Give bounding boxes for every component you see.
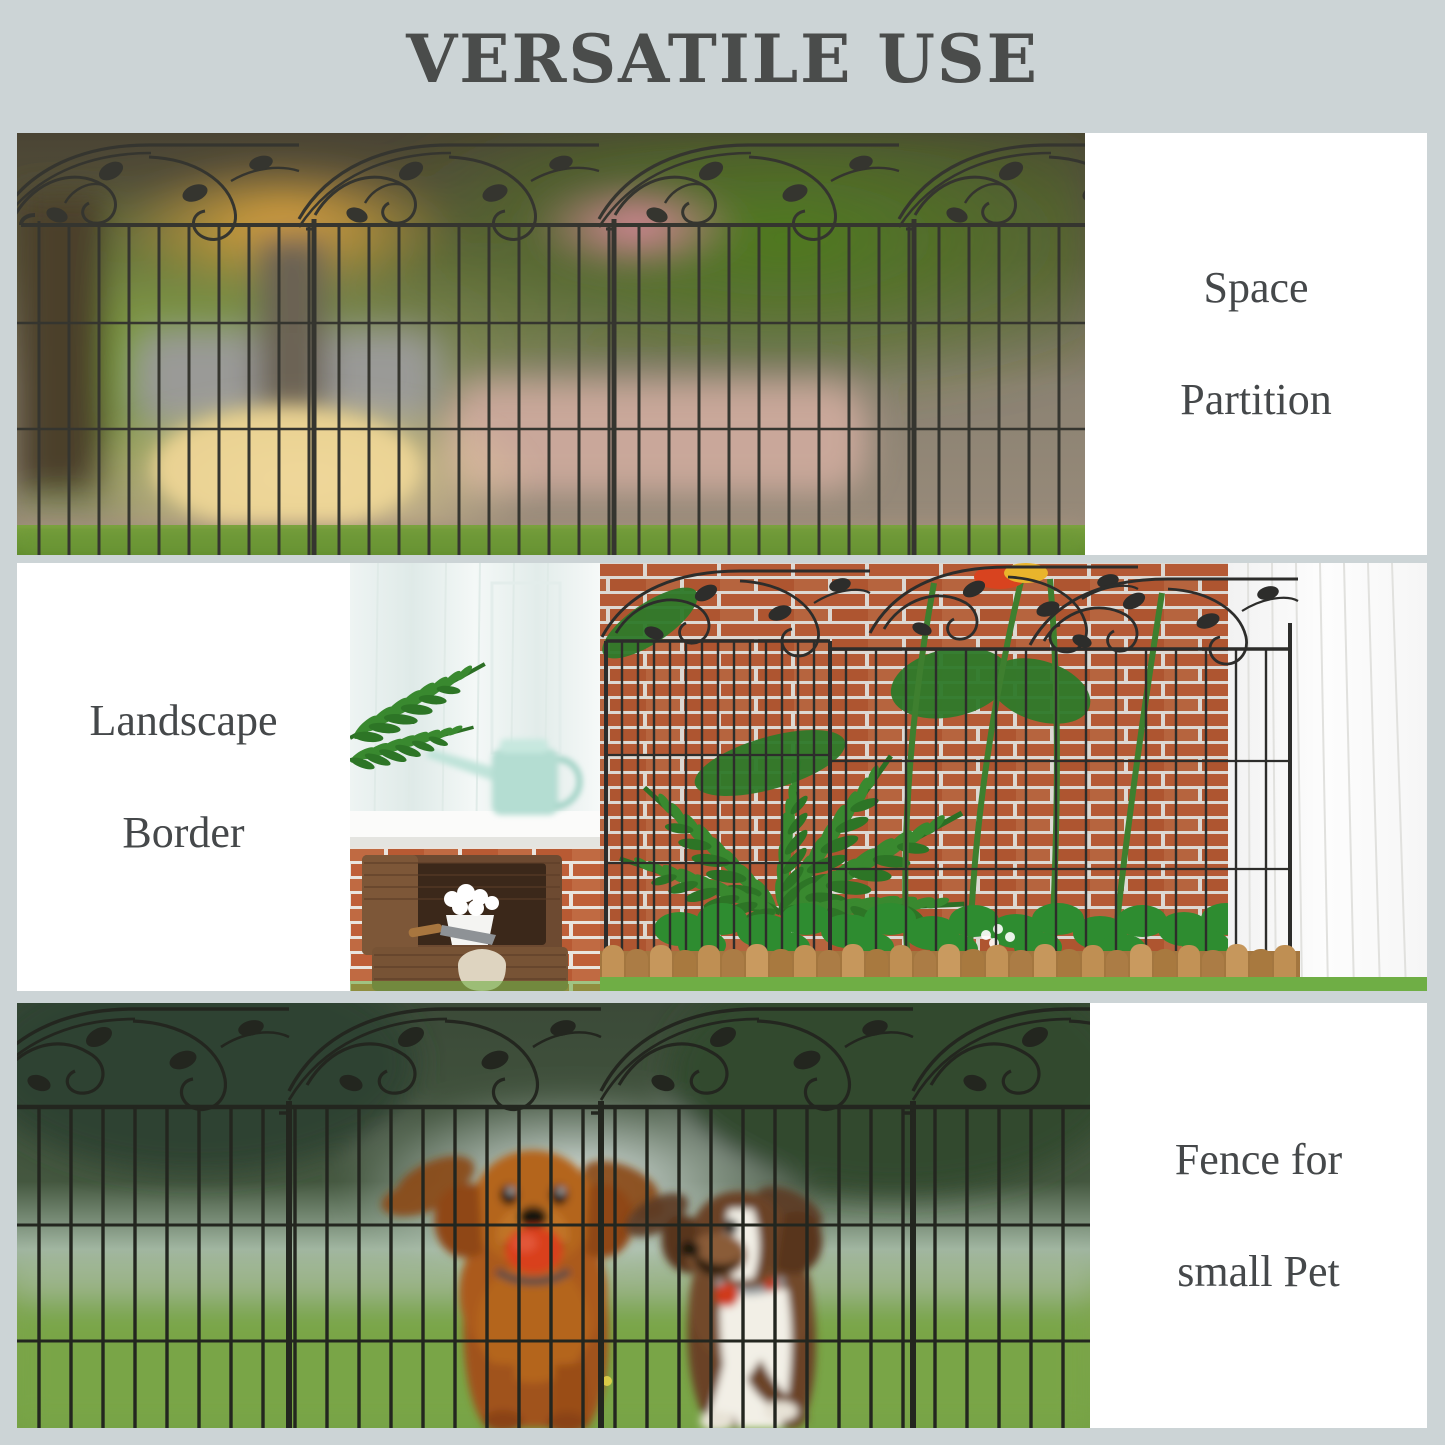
panel-landscape-border: LandscapeBorder xyxy=(17,563,1427,991)
caption-space-partition: SpacePartition xyxy=(1085,133,1427,555)
scene-patio-fence xyxy=(17,133,1085,555)
panel-fence-for-small-pet: Fence forsmall Pet xyxy=(17,1003,1427,1428)
caption-text: LandscapeBorder xyxy=(73,693,293,861)
caption-line-2: Border xyxy=(81,805,285,861)
photo-landscape-border xyxy=(350,563,1427,991)
page-title: VERSATILE USE xyxy=(0,20,1445,98)
infographic-page: VERSATILE USE xyxy=(0,0,1445,1445)
photo-space-partition xyxy=(17,133,1085,555)
caption-fence-for-small-pet: Fence forsmall Pet xyxy=(1090,1003,1427,1428)
wicker-baskets xyxy=(362,855,568,991)
caption-line-1: Landscape xyxy=(81,693,285,749)
panel-space-partition: SpacePartition xyxy=(17,133,1427,555)
caption-text: Fence forsmall Pet xyxy=(1159,1132,1358,1300)
red-ball xyxy=(505,1226,563,1274)
photo-fence-for-small-pet xyxy=(17,1003,1090,1428)
caption-line-2: Partition xyxy=(1172,372,1340,428)
caption-landscape-border: LandscapeBorder xyxy=(17,563,350,991)
collar-tag xyxy=(715,1283,739,1307)
caption-line-1: Fence for xyxy=(1167,1132,1350,1188)
scene-dogs-behind-fence xyxy=(17,1003,1090,1428)
caption-line-2: small Pet xyxy=(1167,1244,1350,1300)
scene-garden-border xyxy=(350,563,1427,991)
caption-text: SpacePartition xyxy=(1164,260,1348,428)
caption-line-1: Space xyxy=(1172,260,1340,316)
